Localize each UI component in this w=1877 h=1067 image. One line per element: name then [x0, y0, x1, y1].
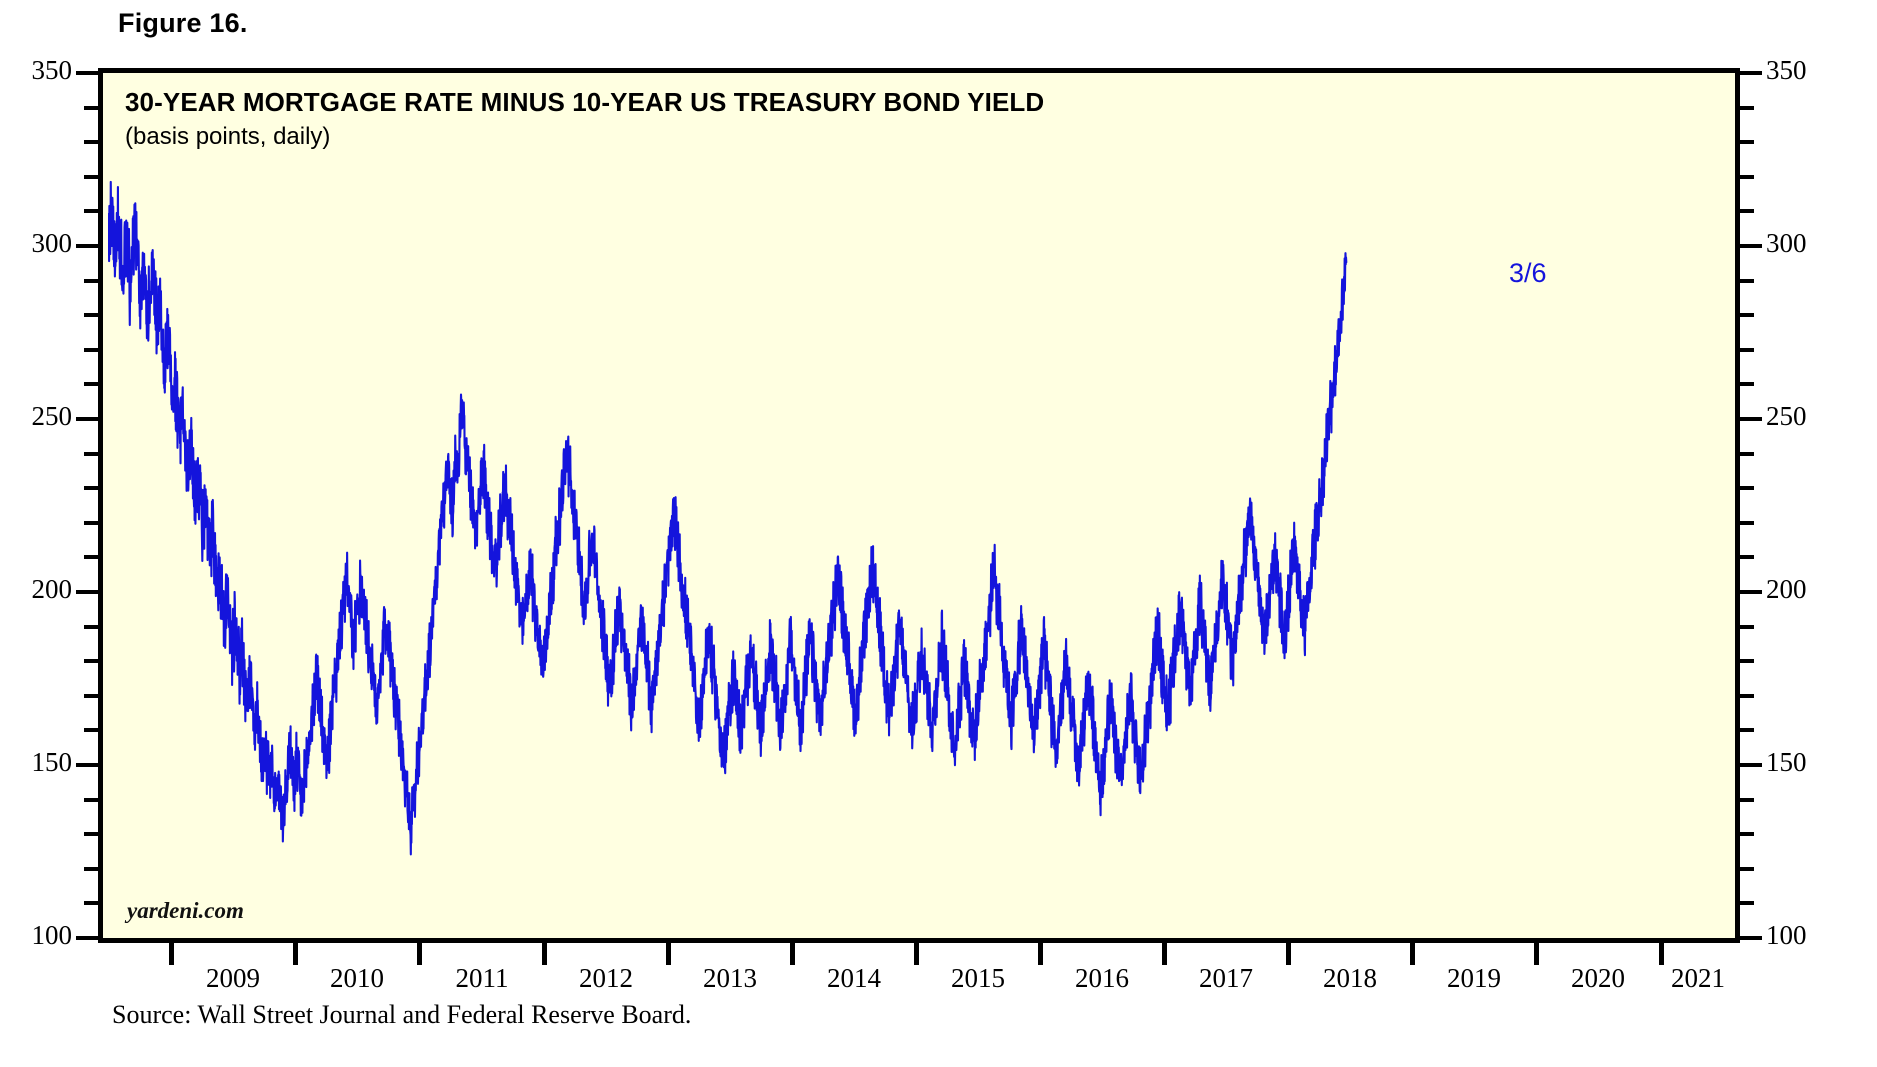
- source-note: Source: Wall Street Journal and Federal …: [112, 1000, 691, 1030]
- y-tick-260-left: [84, 382, 98, 386]
- y-tick-210-right: [1740, 555, 1754, 559]
- x-axis-label-2021: 2021: [1648, 963, 1748, 994]
- y-tick-330-left: [84, 140, 98, 144]
- y-tick-320-left: [84, 175, 98, 179]
- y-tick-260-right: [1740, 382, 1754, 386]
- y-tick-240-left: [84, 452, 98, 456]
- y-tick-190-left: [84, 625, 98, 629]
- x-axis-label-2011: 2011: [432, 963, 532, 994]
- x-axis-label-2019: 2019: [1424, 963, 1524, 994]
- y-tick-310-right: [1740, 209, 1754, 213]
- y-tick-180-left: [84, 659, 98, 663]
- y-tick-310-left: [84, 209, 98, 213]
- y-tick-300-left: [76, 244, 98, 248]
- y-tick-110-right: [1740, 901, 1754, 905]
- y-tick-160-left: [84, 728, 98, 732]
- y-tick-170-right: [1740, 694, 1754, 698]
- y-tick-280-right: [1740, 313, 1754, 317]
- x-tick-2018: [1286, 943, 1291, 965]
- y-tick-230-left: [84, 486, 98, 490]
- x-tick-2016: [1038, 943, 1043, 965]
- x-axis-label-2020: 2020: [1548, 963, 1648, 994]
- y-tick-100-left: [76, 936, 98, 940]
- y-axis-label-left-350: 350: [0, 55, 72, 86]
- y-tick-200-right: [1740, 590, 1762, 594]
- y-tick-100-right: [1740, 936, 1762, 940]
- y-tick-250-right: [1740, 417, 1762, 421]
- x-axis-label-2013: 2013: [680, 963, 780, 994]
- yardeni-watermark: yardeni.com: [127, 898, 244, 924]
- chart-plot-area: 30-YEAR MORTGAGE RATE MINUS 10-YEAR US T…: [98, 68, 1740, 943]
- x-tick-2019: [1410, 943, 1415, 965]
- y-tick-220-right: [1740, 521, 1754, 525]
- x-tick-2017: [1162, 943, 1167, 965]
- y-tick-160-right: [1740, 728, 1754, 732]
- y-tick-300-right: [1740, 244, 1762, 248]
- y-axis-label-right-100: 100: [1766, 920, 1838, 951]
- y-axis-label-left-250: 250: [0, 401, 72, 432]
- y-tick-270-left: [84, 348, 98, 352]
- y-tick-210-left: [84, 555, 98, 559]
- y-axis-label-left-150: 150: [0, 747, 72, 778]
- y-tick-150-left: [76, 763, 98, 767]
- y-tick-110-left: [84, 901, 98, 905]
- y-tick-320-right: [1740, 175, 1754, 179]
- y-tick-120-left: [84, 867, 98, 871]
- y-tick-170-left: [84, 694, 98, 698]
- x-tick-2014: [790, 943, 795, 965]
- y-axis-label-left-200: 200: [0, 574, 72, 605]
- y-tick-250-left: [76, 417, 98, 421]
- x-axis-label-2014: 2014: [804, 963, 904, 994]
- y-tick-220-left: [84, 521, 98, 525]
- endpoint-annotation-label: 3/6: [1509, 258, 1547, 289]
- chart-series-svg: [108, 78, 1740, 943]
- x-axis-label-2017: 2017: [1176, 963, 1276, 994]
- chart-title: 30-YEAR MORTGAGE RATE MINUS 10-YEAR US T…: [125, 87, 1044, 118]
- x-axis-label-2012: 2012: [556, 963, 656, 994]
- y-tick-150-right: [1740, 763, 1762, 767]
- y-tick-130-left: [84, 832, 98, 836]
- y-tick-340-right: [1740, 106, 1754, 110]
- y-axis-label-right-350: 350: [1766, 55, 1838, 86]
- y-tick-240-right: [1740, 452, 1754, 456]
- x-axis-label-2009: 2009: [183, 963, 283, 994]
- x-axis-label-2010: 2010: [307, 963, 407, 994]
- y-tick-140-right: [1740, 798, 1754, 802]
- series-line-mortgage-spread: [108, 182, 1346, 855]
- y-tick-290-right: [1740, 279, 1754, 283]
- chart-subtitle: (basis points, daily): [125, 123, 330, 151]
- y-tick-140-left: [84, 798, 98, 802]
- y-tick-190-right: [1740, 625, 1754, 629]
- x-tick-2009: [169, 943, 174, 965]
- figure-number-label: Figure 16.: [118, 8, 248, 39]
- x-tick-2013: [666, 943, 671, 965]
- x-tick-2011: [417, 943, 422, 965]
- y-axis-label-right-300: 300: [1766, 228, 1838, 259]
- x-axis-label-2016: 2016: [1052, 963, 1152, 994]
- y-axis-label-right-250: 250: [1766, 401, 1838, 432]
- y-tick-330-right: [1740, 140, 1754, 144]
- y-tick-200-left: [76, 590, 98, 594]
- x-tick-2010: [293, 943, 298, 965]
- y-tick-180-right: [1740, 659, 1754, 663]
- y-tick-340-left: [84, 106, 98, 110]
- y-axis-label-left-300: 300: [0, 228, 72, 259]
- y-tick-270-right: [1740, 348, 1754, 352]
- x-axis-label-2018: 2018: [1300, 963, 1400, 994]
- x-axis-label-2015: 2015: [928, 963, 1028, 994]
- x-tick-2020: [1534, 943, 1539, 965]
- y-axis-label-right-200: 200: [1766, 574, 1838, 605]
- y-tick-230-right: [1740, 486, 1754, 490]
- x-tick-2015: [914, 943, 919, 965]
- x-tick-2012: [542, 943, 547, 965]
- y-tick-290-left: [84, 279, 98, 283]
- y-tick-350-right: [1740, 71, 1762, 75]
- y-axis-label-right-150: 150: [1766, 747, 1838, 778]
- y-tick-130-right: [1740, 832, 1754, 836]
- y-tick-350-left: [76, 71, 98, 75]
- y-tick-280-left: [84, 313, 98, 317]
- x-tick-2021: [1659, 943, 1664, 965]
- y-axis-label-left-100: 100: [0, 920, 72, 951]
- y-tick-120-right: [1740, 867, 1754, 871]
